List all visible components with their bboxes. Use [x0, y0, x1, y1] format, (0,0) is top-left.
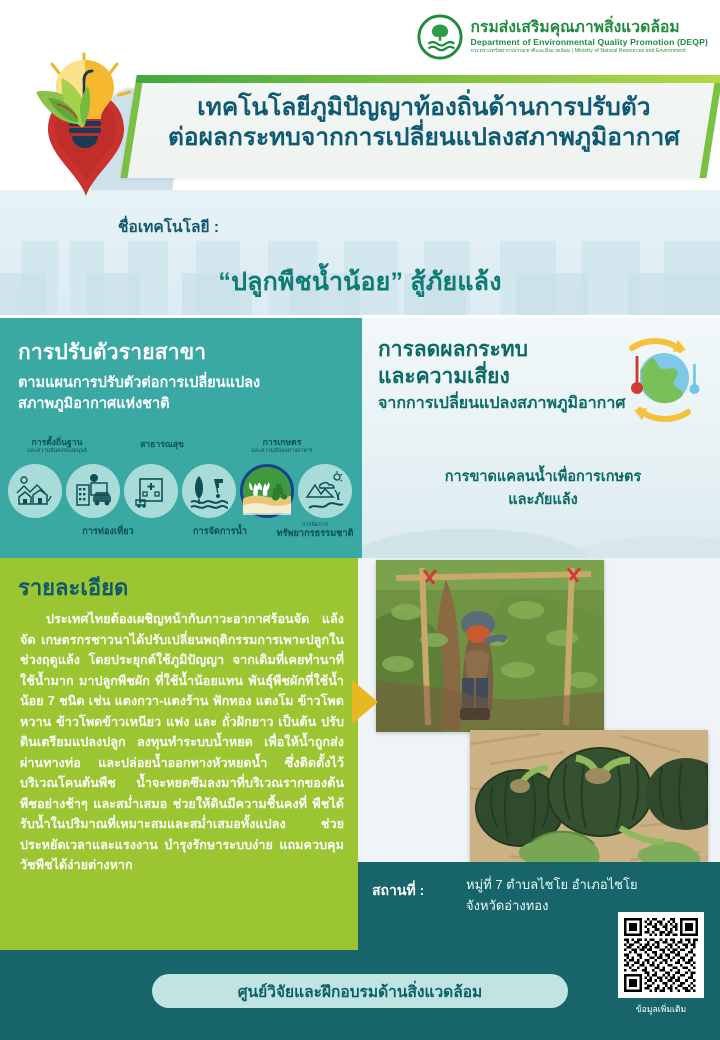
sector-label-tourism: การท่องเที่ยว — [58, 526, 158, 537]
public-health-hospital-icon — [131, 471, 171, 511]
adaptation-subheading-line1: ตามแผนการปรับตัวต่อการเปลี่ยนแปลง — [18, 373, 358, 394]
adaptation-heading: การปรับตัวรายสาขา — [18, 336, 358, 369]
poster-header: กรมส่งเสริมคุณภาพสิ่งแวดล้อม Department … — [0, 0, 720, 315]
title-line-1: เทคโนโลยีภูมิปัญญาท้องถิ่นด้านการปรับตัว — [155, 93, 693, 123]
sector-icon-group: การตั้งถิ่นฐาน และความมั่นคงของมนุษย์ สา… — [0, 438, 358, 558]
natural-resources-mountain-icon — [304, 470, 346, 512]
sector-label-agriculture: การเกษตร และความมั่นคงทางอาหาร — [228, 438, 336, 454]
sector-icon-natural-resources[interactable] — [298, 464, 352, 518]
sector-bottom-labels: การท่องเที่ยว การจัดการน้ำ การจัดการ ทรั… — [0, 526, 358, 556]
main-title-banner: เทคโนโลยีภูมิปัญญาท้องถิ่นด้านการปรับตัว… — [120, 82, 720, 178]
risk-description: การขาดแคลนน้ำเพื่อการเกษตร และภัยแล้ง — [362, 466, 720, 512]
adaptation-sectors-panel: การปรับตัวรายสาขา ตามแผนการปรับตัวต่อการ… — [0, 318, 358, 558]
sector-label-water-management: การจัดการน้ำ — [170, 526, 270, 537]
arrow-pointer-icon — [352, 680, 378, 724]
sector-label-settlement: การตั้งถิ่นฐาน และความมั่นคงของมนุษย์ — [2, 438, 112, 454]
deqp-name-thai: กรมส่งเสริมคุณภาพสิ่งแวดล้อม — [471, 19, 708, 37]
footer-organization-pill: ศูนย์วิจัยและฝึกอบรมด้านสิ่งแวดล้อม — [152, 974, 568, 1008]
location-label: สถานที่ : — [372, 880, 424, 902]
qr-code-icon — [624, 918, 698, 992]
sector-icon-agriculture[interactable] — [240, 464, 294, 518]
sector-icons-row — [8, 464, 358, 526]
details-body-text: ประเทศไทยต้องเผชิญหน้ากับภาวะอากาศร้อนจั… — [20, 609, 344, 876]
ministry-name: กระทรวงทรัพยากรธรรมชาติและสิ่งแวดล้อม | … — [471, 48, 708, 54]
tourism-city-car-icon — [73, 471, 113, 511]
pumpkins-on-straw-mulch-photo — [470, 730, 708, 876]
sector-label-natural-resources: การจัดการ ทรัพยากรธรรมชาติ — [272, 522, 358, 539]
footer-organization-name: ศูนย์วิจัยและฝึกอบรมด้านสิ่งแวดล้อม — [238, 979, 483, 1004]
farmer-trellis-vegetable-plot-photo — [376, 560, 604, 732]
location-line-2: จังหวัดอ่างทอง — [466, 895, 638, 916]
details-panel: รายละเอียด ประเทศไทยต้องเผชิญหน้ากับภาวะ… — [0, 558, 358, 950]
technology-label: ชื่อเทคโนโลยี : — [118, 214, 219, 239]
sector-label-public-health: สาธารณสุข — [122, 440, 202, 450]
water-management-tap-river-icon — [188, 470, 230, 512]
location-value: หมู่ที่ 7 ตำบลไชโย อำเภอไชโย จังหวัดอ่าง… — [466, 874, 638, 916]
adaptation-subheading-line2: สภาพภูมิอากาศแห่งชาติ — [18, 394, 358, 415]
deqp-logo-text: กรมส่งเสริมคุณภาพสิ่งแวดล้อม Department … — [471, 19, 708, 54]
location-line-1: หมู่ที่ 7 ตำบลไชโย อำเภอไชโย — [466, 874, 638, 895]
poster-root: กรมส่งเสริมคุณภาพสิ่งแวดล้อม Department … — [0, 0, 720, 1040]
deqp-tree-logo-icon — [417, 14, 463, 60]
deqp-name-english: Department of Environmental Quality Prom… — [471, 37, 708, 47]
title-line-2: ต่อผลกระทบจากการเปลี่ยนแปลงสภาพภูมิอากาศ — [155, 123, 693, 153]
risk-line-2: และภัยแล้ง — [362, 489, 720, 512]
settlement-houses-icon — [15, 471, 55, 511]
thermometer-cold-icon — [690, 360, 700, 394]
qr-code-box[interactable] — [618, 912, 704, 998]
agriculture-crops-tractor-icon — [243, 466, 291, 516]
globe-thermometer-climate-icon — [614, 334, 706, 426]
mitigation-panel: การลดผลกระทบ และความเสี่ยง จากการเปลี่ยน… — [358, 318, 720, 558]
sector-icon-settlement[interactable] — [8, 464, 62, 518]
details-heading: รายละเอียด — [18, 570, 358, 605]
sector-top-labels: การตั้งถิ่นฐาน และความมั่นคงของมนุษย์ สา… — [0, 438, 358, 464]
risk-line-1: การขาดแคลนน้ำเพื่อการเกษตร — [362, 466, 720, 489]
deqp-logo: กรมส่งเสริมคุณภาพสิ่งแวดล้อม Department … — [417, 14, 708, 60]
photo1-illustration — [376, 560, 604, 732]
technology-name: “ปลูกพืชน้ำน้อย” สู้ภัยแล้ง — [0, 262, 720, 302]
photo2-illustration — [470, 730, 708, 876]
sector-icon-water-management[interactable] — [182, 464, 236, 518]
sector-icon-public-health[interactable] — [124, 464, 178, 518]
qr-code-caption: ข้อมูลเพิ่มเติม — [618, 1002, 704, 1016]
sector-icon-tourism[interactable] — [66, 464, 120, 518]
